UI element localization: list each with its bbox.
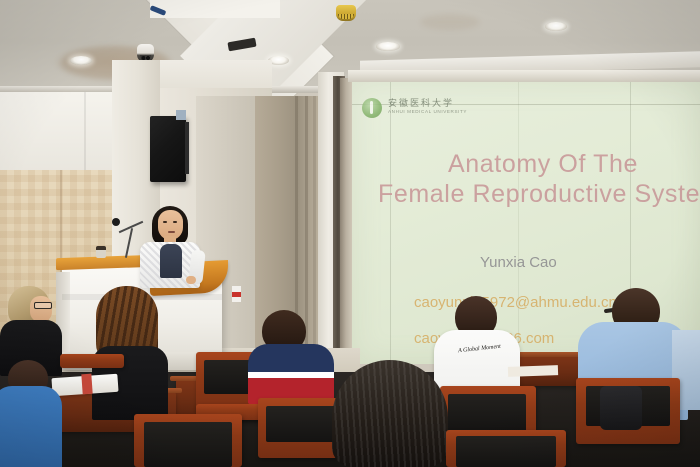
university-logo: 安徽医科大学 ANHUI MEDICAL UNIVERSITY: [362, 96, 482, 122]
wall-sign: [232, 286, 241, 302]
screen-frame: [340, 78, 352, 364]
presenter-mouth: [168, 231, 175, 233]
slide-email-primary: caoyunxia5972@ahmu.edu.cn: [414, 294, 617, 311]
attendee-foreground-left-body: [0, 386, 62, 467]
eyeglasses-icon: [34, 302, 52, 309]
slide-title-line2: Female Reproductive System: [378, 180, 700, 209]
logo-mark-icon: [362, 98, 382, 118]
ceiling-downlight: [70, 56, 92, 65]
book-band: [81, 374, 92, 395]
smoke-detector-icon: [336, 5, 356, 21]
attendee-longhair-foreground: [332, 360, 448, 467]
slide-title-line1: Anatomy Of The: [448, 150, 638, 179]
backpack: [600, 386, 642, 430]
cup-on-podium: [96, 246, 106, 258]
chair-padding: [266, 406, 340, 442]
wall-loudspeaker: [150, 116, 186, 182]
presenter-hand: [186, 276, 196, 284]
attendee-striped-body: [248, 344, 334, 404]
chair-padding: [144, 422, 232, 467]
chair-padding: [448, 394, 526, 432]
loudspeaker-bracket: [176, 110, 186, 120]
slide-presenter-name: Yunxia Cao: [480, 254, 557, 271]
papers-on-desk: [508, 365, 558, 377]
ceiling-downlight: [376, 42, 400, 51]
chair-back: [60, 354, 124, 368]
attendee-blonde-face: [30, 296, 52, 322]
ceiling-downlight: [545, 22, 567, 31]
microphone-icon: [112, 218, 120, 226]
chair-padding: [456, 436, 556, 467]
logo-text-en: ANHUI MEDICAL UNIVERSITY: [388, 109, 467, 114]
screen-top-bar: [348, 70, 700, 82]
ceiling-soffit-flat: [150, 0, 280, 18]
presenter-blouse: [160, 244, 182, 278]
ceiling-stain: [420, 14, 480, 30]
logo-text-cn: 安徽医科大学: [388, 96, 454, 109]
lecture-hall-photo: 安徽医科大学 ANHUI MEDICAL UNIVERSITY Anatomy …: [0, 0, 700, 467]
